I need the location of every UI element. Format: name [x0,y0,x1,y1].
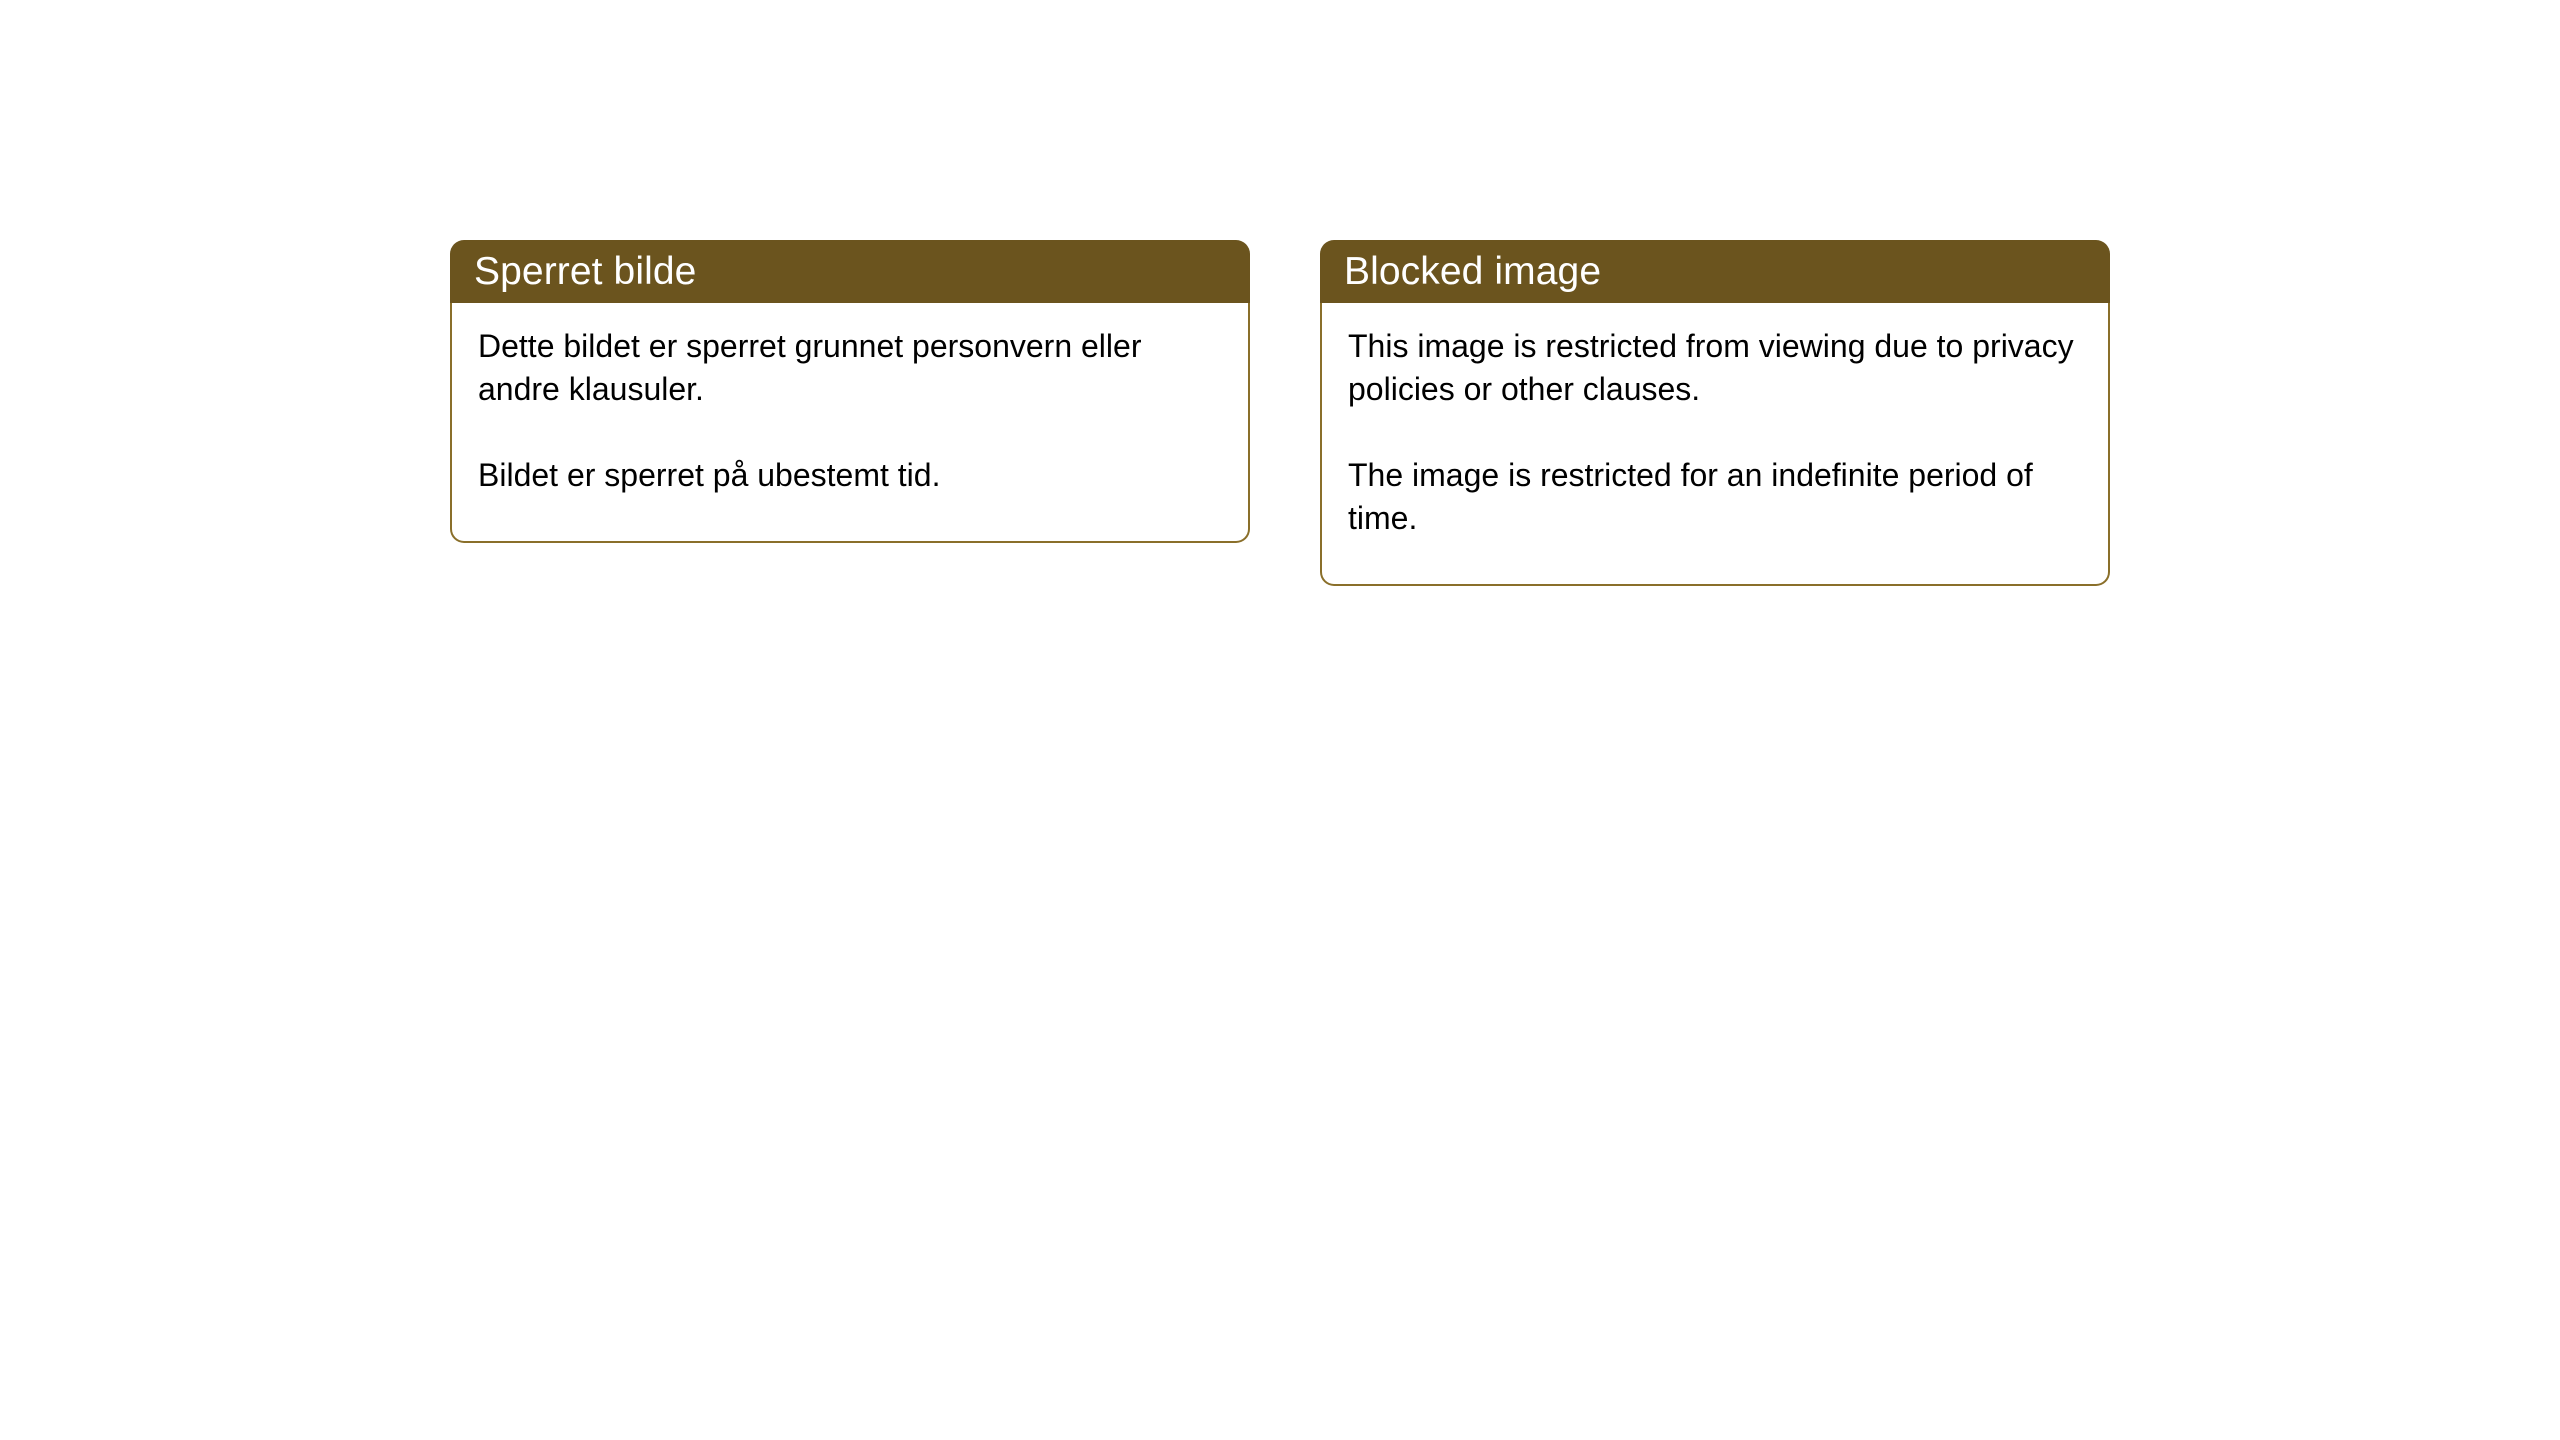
card-header-english: Blocked image [1320,240,2110,303]
blocked-image-notice-group: Sperret bilde Dette bildet er sperret gr… [450,240,2110,586]
blocked-image-card-english: Blocked image This image is restricted f… [1320,240,2110,586]
card-message-secondary-norwegian: Bildet er sperret på ubestemt tid. [478,454,1222,497]
card-message-primary-english: This image is restricted from viewing du… [1348,325,2082,411]
card-body-english: This image is restricted from viewing du… [1320,303,2110,586]
card-title-norwegian: Sperret bilde [474,252,696,291]
blocked-image-card-norwegian: Sperret bilde Dette bildet er sperret gr… [450,240,1250,543]
card-header-norwegian: Sperret bilde [450,240,1250,303]
card-message-primary-norwegian: Dette bildet er sperret grunnet personve… [478,325,1222,411]
card-title-english: Blocked image [1344,252,1601,291]
card-body-norwegian: Dette bildet er sperret grunnet personve… [450,303,1250,543]
card-message-secondary-english: The image is restricted for an indefinit… [1348,454,2082,540]
